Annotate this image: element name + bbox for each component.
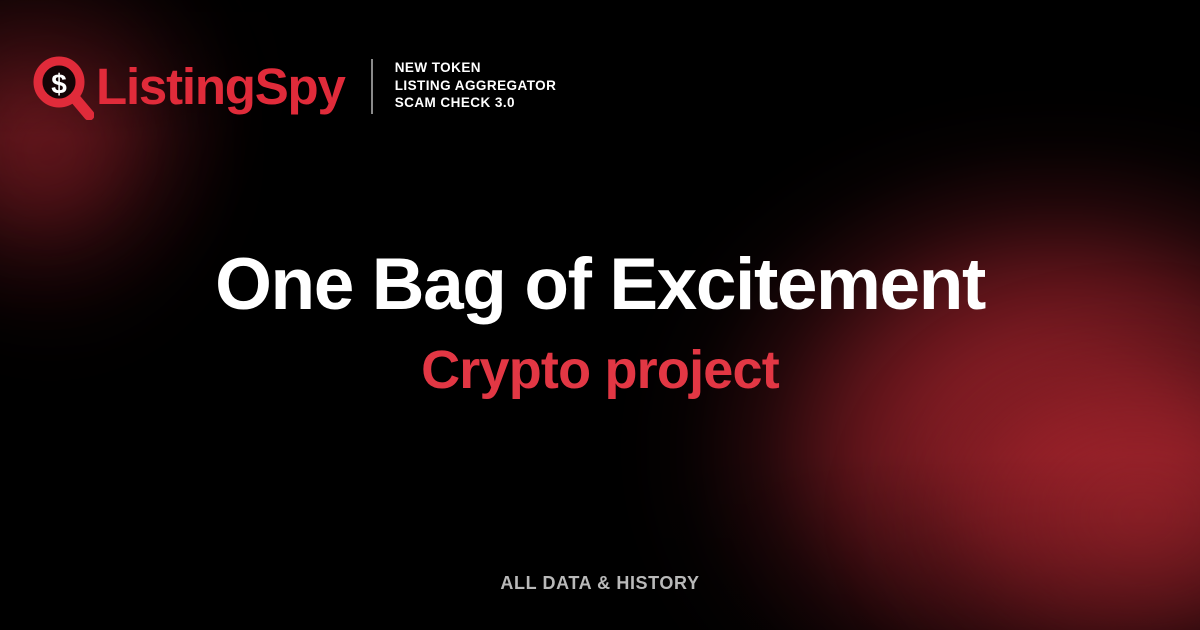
footer-block: ALL DATA & HISTORY [0, 573, 1200, 594]
header-divider [371, 59, 373, 114]
footer-caption: ALL DATA & HISTORY [500, 573, 699, 593]
brand-header[interactable]: $ ListingSpy NEW TOKEN LISTING AGGREGATO… [32, 52, 556, 120]
tagline-line-1: NEW TOKEN [395, 61, 557, 76]
hero-block: One Bag of Excitement Crypto project [0, 248, 1200, 397]
logo-lockup[interactable]: $ ListingSpy [32, 52, 345, 120]
page-subtitle: Crypto project [0, 343, 1200, 397]
page-title: One Bag of Excitement [0, 248, 1200, 321]
tagline-line-2: LISTING AGGREGATOR [395, 79, 557, 94]
social-card: $ ListingSpy NEW TOKEN LISTING AGGREGATO… [0, 0, 1200, 630]
svg-text:$: $ [51, 69, 67, 100]
magnifier-dollar-icon: $ [32, 52, 94, 120]
brand-wordmark: ListingSpy [96, 61, 345, 112]
tagline-line-3: SCAM CHECK 3.0 [395, 96, 557, 111]
brand-tagline: NEW TOKEN LISTING AGGREGATOR SCAM CHECK … [395, 61, 557, 111]
